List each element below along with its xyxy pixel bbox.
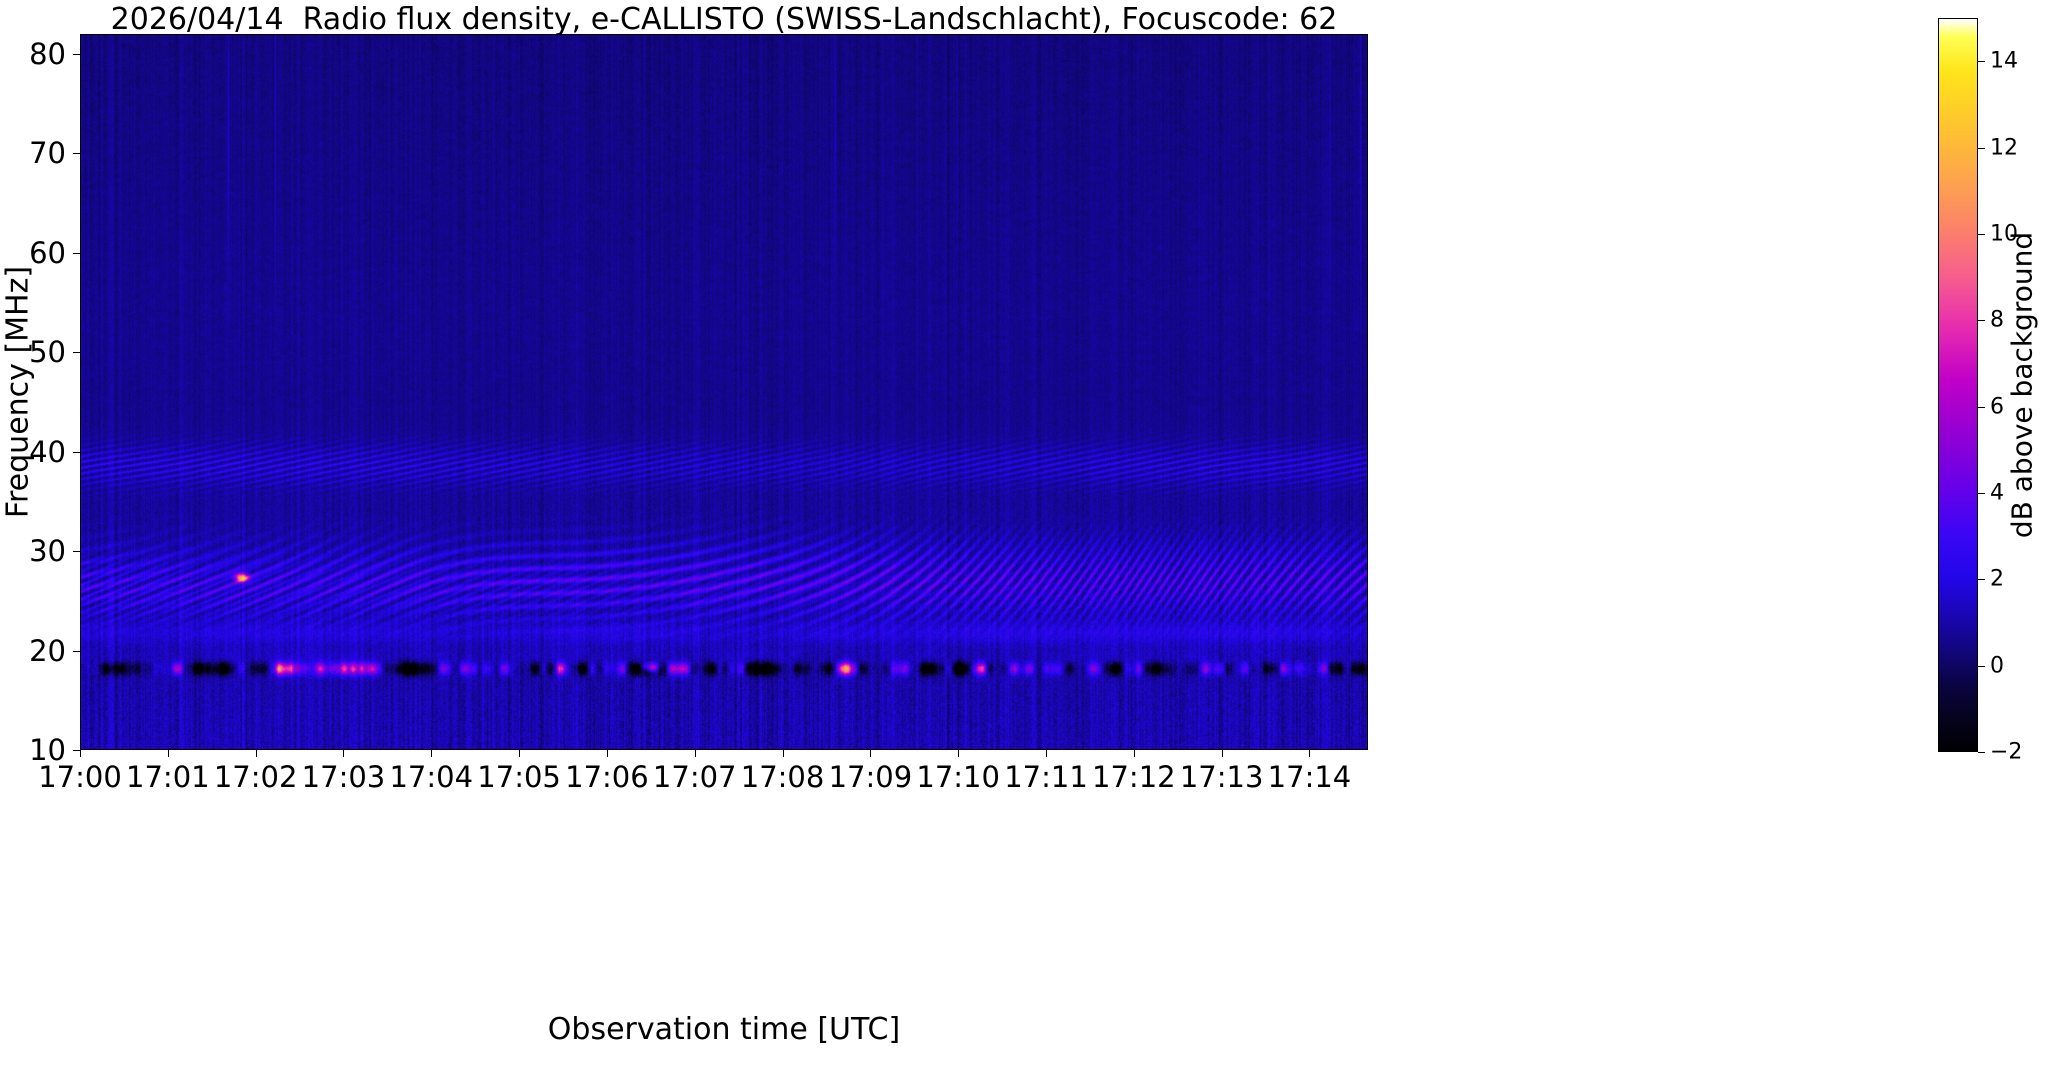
x-tick-label-17:09: 17:09 (829, 760, 913, 794)
page-title: 2026/04/14 Radio flux density, e-CALLIST… (80, 2, 1368, 37)
colorbar-tick-12 (1978, 148, 1985, 149)
colorbar-tick--2 (1978, 752, 1985, 753)
figure-canvas: 2026/04/14 Radio flux density, e-CALLIST… (0, 0, 2047, 1067)
colorbar-tick-label-12: 12 (1990, 135, 2018, 160)
x-tick-17:13 (1222, 750, 1223, 757)
spectrogram-axes[interactable] (80, 34, 1368, 750)
x-tick-17:14 (1309, 750, 1310, 757)
spectrogram-image[interactable] (81, 35, 1367, 749)
colorbar-tick-6 (1978, 407, 1985, 408)
x-tick-label-17:12: 17:12 (1092, 760, 1176, 794)
x-tick-17:01 (168, 750, 169, 757)
y-tick-60 (73, 253, 80, 254)
colorbar-tick-label--2: −2 (1990, 740, 2022, 765)
y-tick-30 (73, 551, 80, 552)
x-tick-17:09 (870, 750, 871, 757)
colorbar-tick-8 (1978, 320, 1985, 321)
y-tick-20 (73, 651, 80, 652)
colorbar-tick-label-8: 8 (1990, 308, 2004, 333)
colorbar-gradient (1939, 19, 1977, 751)
colorbar-tick-label-4: 4 (1990, 480, 2004, 505)
x-tick-label-17:08: 17:08 (741, 760, 825, 794)
x-tick-label-17:11: 17:11 (1004, 760, 1088, 794)
x-tick-17:06 (607, 750, 608, 757)
x-tick-label-17:02: 17:02 (214, 760, 298, 794)
x-tick-label-17:04: 17:04 (389, 760, 473, 794)
x-tick-label-17:14: 17:14 (1268, 760, 1352, 794)
x-tick-label-17:01: 17:01 (126, 760, 210, 794)
colorbar-tick-label-14: 14 (1990, 49, 2018, 74)
colorbar-tick-label-6: 6 (1990, 394, 2004, 419)
y-tick-80 (73, 54, 80, 55)
x-tick-17:10 (958, 750, 959, 757)
x-tick-17:00 (80, 750, 81, 757)
x-tick-17:02 (256, 750, 257, 757)
x-tick-17:03 (343, 750, 344, 757)
y-tick-50 (73, 352, 80, 353)
x-tick-label-17:06: 17:06 (565, 760, 649, 794)
y-tick-40 (73, 452, 80, 453)
y-axis-title: Frequency [MHz] (1, 42, 36, 742)
y-tick-10 (73, 750, 80, 751)
x-tick-17:12 (1134, 750, 1135, 757)
x-tick-17:11 (1046, 750, 1047, 757)
x-tick-17:07 (695, 750, 696, 757)
x-tick-label-17:05: 17:05 (477, 760, 561, 794)
x-axis-title: Observation time [UTC] (80, 1012, 1368, 1047)
colorbar-tick-14 (1978, 61, 1985, 62)
x-tick-17:08 (783, 750, 784, 757)
colorbar-tick-10 (1978, 234, 1985, 235)
x-tick-17:05 (519, 750, 520, 757)
colorbar-title: dB above background (2006, 232, 2039, 538)
colorbar-tick-2 (1978, 579, 1985, 580)
x-tick-label-17:00: 17:00 (38, 760, 122, 794)
colorbar-tick-label-0: 0 (1990, 653, 2004, 678)
x-tick-label-17:13: 17:13 (1180, 760, 1264, 794)
colorbar-tick-4 (1978, 493, 1985, 494)
x-tick-label-17:07: 17:07 (653, 760, 737, 794)
y-tick-70 (73, 153, 80, 154)
colorbar[interactable] (1938, 18, 1978, 752)
x-tick-17:04 (431, 750, 432, 757)
x-tick-label-17:03: 17:03 (302, 760, 386, 794)
colorbar-tick-0 (1978, 666, 1985, 667)
colorbar-tick-label-2: 2 (1990, 567, 2004, 592)
x-tick-label-17:10: 17:10 (916, 760, 1000, 794)
